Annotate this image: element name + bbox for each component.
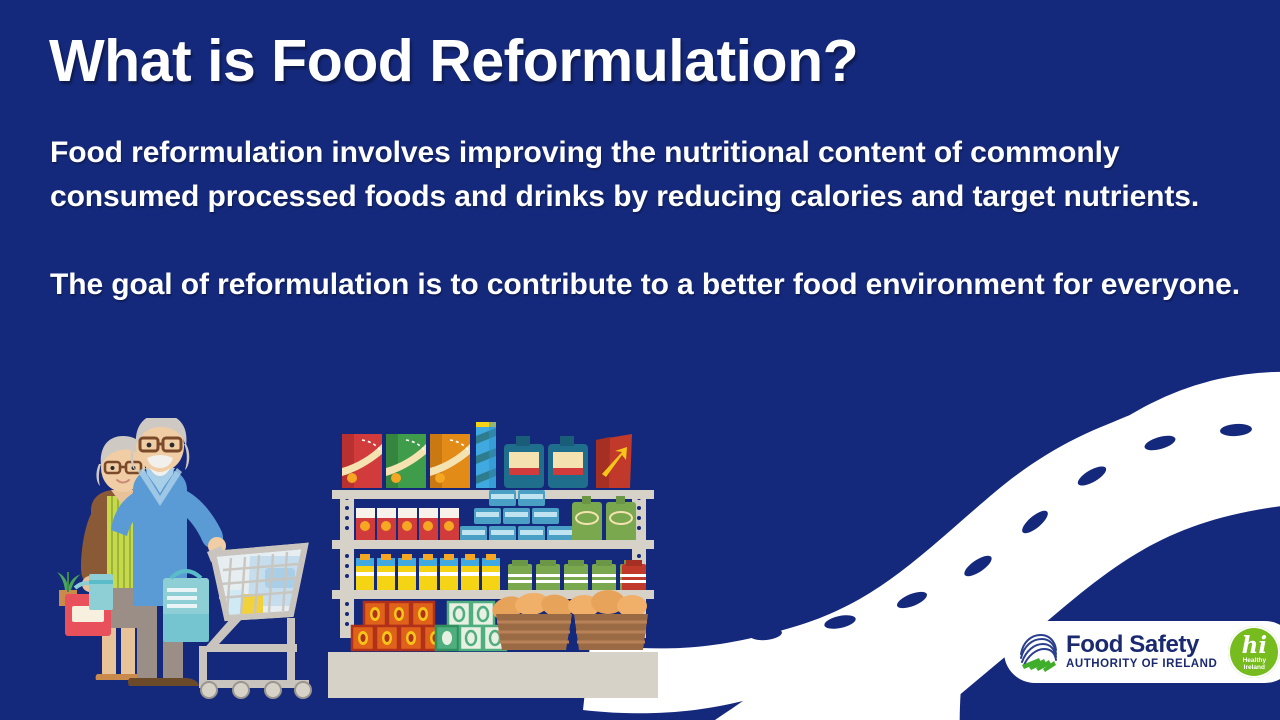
- hi-subtitle: Healthy Ireland: [1243, 657, 1266, 671]
- green-bottle-1: [572, 496, 602, 542]
- slide-canvas: What is Food Reformulation? Food reformu…: [0, 0, 1280, 720]
- elderly-couple-shopping-illustration: [55, 418, 317, 700]
- third-shelf-products: [356, 554, 646, 592]
- paragraph-2: The goal of reformulation is to contribu…: [50, 263, 1250, 307]
- chip-bag: [596, 434, 632, 488]
- yellow-bottle-row: [356, 554, 500, 592]
- hi-letters: hi: [1242, 635, 1267, 656]
- paragraph-1: Food reformulation involves improving th…: [50, 131, 1250, 219]
- bread-basket-1: [489, 591, 575, 650]
- cup-row: [356, 508, 459, 542]
- teal-bag-small: [89, 574, 113, 610]
- page-title: What is Food Reformulation?: [49, 26, 858, 96]
- cereal-box-green: [386, 434, 426, 488]
- fsai-wordmark: Food Safety AUTHORITY OF IRELAND: [1066, 633, 1217, 671]
- shopping-cart: [199, 546, 311, 698]
- fsai-title: Food Safety: [1066, 633, 1217, 657]
- hi-line1: Healthy: [1243, 657, 1266, 664]
- tall-tube: [476, 422, 496, 488]
- top-shelf-products: [342, 422, 632, 488]
- supermarket-shelf-illustration: [326, 416, 660, 700]
- green-bottle-2: [606, 496, 636, 542]
- red-jar: [622, 560, 646, 592]
- body-text-block: Food reformulation involves improving th…: [50, 131, 1250, 307]
- fsai-subtitle: AUTHORITY OF IRELAND: [1066, 658, 1217, 671]
- shelf-board-2: [332, 540, 654, 549]
- logo-lockup: Food Safety AUTHORITY OF IRELAND hi Heal…: [1004, 621, 1280, 683]
- detergent-jug-1: [504, 436, 544, 488]
- hi-line2: Ireland: [1243, 664, 1266, 671]
- cereal-box-red: [342, 434, 382, 488]
- cereal-box-orange: [430, 434, 470, 488]
- shelf-base: [328, 652, 658, 698]
- fsai-wave-field-mark: [1017, 632, 1059, 672]
- orange-box-stack: [352, 602, 446, 650]
- bread-basket-2: [568, 590, 648, 650]
- detergent-jug-2: [548, 436, 588, 488]
- healthy-ireland-badge: hi Healthy Ireland: [1228, 626, 1280, 678]
